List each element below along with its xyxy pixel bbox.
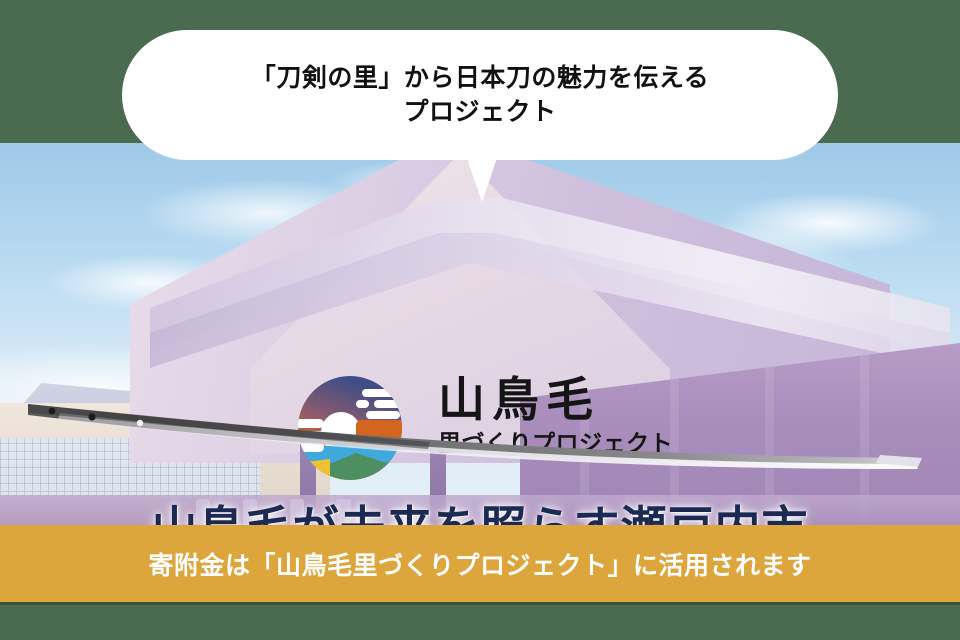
speech-bubble-text: 「刀剣の里」から日本刀の魅力を伝える プロジェクト [251,61,709,129]
donation-usage-banner: 寄附金は「山鳥毛里づくりプロジェクト」に活用されます [0,525,960,602]
bottom-green-strip [0,605,960,640]
donation-usage-text: 寄附金は「山鳥毛里づくりプロジェクト」に活用されます [148,546,811,582]
hero-banner-page: 山鳥毛 里づくりプロジェクト 山鳥毛が未来を照らす瀬戸内市 [0,0,960,640]
speech-bubble-line-2: プロジェクト [251,95,709,129]
speech-bubble-line-1: 「刀剣の里」から日本刀の魅力を伝える [251,61,709,95]
katana-blade-icon [0,403,960,523]
speech-bubble: 「刀剣の里」から日本刀の魅力を伝える プロジェクト [122,30,838,160]
speech-bubble-tail [467,158,497,202]
